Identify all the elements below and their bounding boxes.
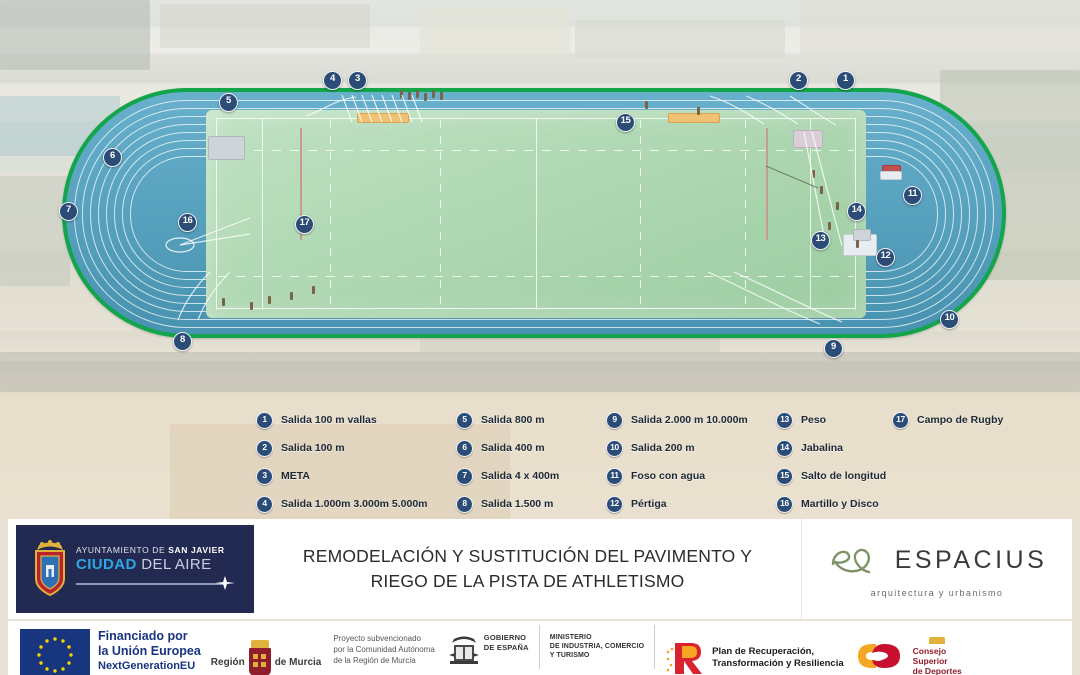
poster-root: 1234567891011121314151617 1Salida 100 m … xyxy=(0,0,1080,675)
legend-column-3: 9Salida 2.000 m 10.000m10Salida 200 m11F… xyxy=(606,406,748,518)
murcia-shield-icon xyxy=(249,648,271,675)
legend-badge-15: 15 xyxy=(776,468,793,485)
legend-column-4: 13Peso14Jabalina15Salto de longitud16Mar… xyxy=(776,406,886,518)
legend-item-1[interactable]: 1Salida 100 m vallas xyxy=(256,406,428,434)
legend-label-12: Pértiga xyxy=(631,498,667,510)
legend-label-7: Salida 4 x 400m xyxy=(481,470,559,482)
ministerio-line1: MINISTERIO xyxy=(550,633,644,642)
ministerio-logo: MINISTERIO DE INDUSTRIA, COMERCIO Y TURI… xyxy=(550,621,644,675)
subvencion-line2: por la Comunidad Autónoma xyxy=(333,644,434,655)
csd-crown-icon xyxy=(929,637,945,644)
pitch-line xyxy=(536,118,537,310)
map-marker-7[interactable]: 7 xyxy=(59,202,78,221)
espacius-logo-top: ESPACIUS xyxy=(827,540,1048,580)
prtr-mark-icon xyxy=(665,638,707,675)
legend-item-5[interactable]: 5Salida 800 m xyxy=(456,406,559,434)
legend-item-7[interactable]: 7Salida 4 x 400m xyxy=(456,462,559,490)
prtr-logo: Plan de Recuperación, Transformación y R… xyxy=(665,621,843,675)
map-marker-13[interactable]: 13 xyxy=(811,231,830,250)
prtr-line1: Plan de Recuperación, xyxy=(712,646,843,658)
municipal-logo-text: AYUNTAMIENTO DE SAN JAVIER CIUDAD DEL AI… xyxy=(76,545,225,573)
murcia-pre: Región xyxy=(211,657,245,668)
legend-label-13: Peso xyxy=(801,414,826,426)
map-marker-15[interactable]: 15 xyxy=(616,113,635,132)
legend-badge-13: 13 xyxy=(776,412,793,429)
legend-item-12[interactable]: 12Pértiga xyxy=(606,490,748,518)
prtr-line2: Transformación y Resiliencia xyxy=(712,658,843,670)
funding-divider xyxy=(539,625,540,669)
legend-item-17[interactable]: 17Campo de Rugby xyxy=(892,406,1003,434)
map-marker-6[interactable]: 6 xyxy=(103,148,122,167)
high-jump-mat xyxy=(208,136,245,160)
municipal-line1: AYUNTAMIENTO DE SAN JAVIER xyxy=(76,545,225,555)
legend-badge-5: 5 xyxy=(456,412,473,429)
legend-item-8[interactable]: 8Salida 1.500 m xyxy=(456,490,559,518)
espacius-logo: ESPACIUS arquitectura y urbanismo xyxy=(801,519,1072,619)
legend-item-10[interactable]: 10Salida 200 m xyxy=(606,434,748,462)
legend-label-3: META xyxy=(281,470,310,482)
legend-label-9: Salida 2.000 m 10.000m xyxy=(631,414,748,426)
ministerio-line2: DE INDUSTRIA, COMERCIO xyxy=(550,642,644,651)
csd-line3: de Deportes xyxy=(913,666,962,675)
legend-column-5: 17Campo de Rugby xyxy=(892,406,1003,434)
legend-item-15[interactable]: 15Salto de longitud xyxy=(776,462,886,490)
san-javier-coat-of-arms-icon xyxy=(32,539,68,597)
map-marker-14[interactable]: 14 xyxy=(847,202,866,221)
legend-item-16[interactable]: 16Martillo y Disco xyxy=(776,490,886,518)
csd-line1: Consejo xyxy=(913,646,962,656)
legend-label-11: Foso con agua xyxy=(631,470,705,482)
eu-line2: la Unión Europea xyxy=(98,644,201,659)
legend-label-14: Jabalina xyxy=(801,442,843,454)
legend-label-16: Martillo y Disco xyxy=(801,498,879,510)
eu-funding-text: Financiado por la Unión Europea NextGene… xyxy=(98,629,201,674)
legend-label-10: Salida 200 m xyxy=(631,442,695,454)
legend-item-3[interactable]: 3META xyxy=(256,462,428,490)
subvencion-text: Proyecto subvencionado por la Comunidad … xyxy=(333,621,434,675)
gobierno-espana-logo: GOBIERNO DE ESPAÑA xyxy=(449,621,529,675)
legend-item-13[interactable]: 13Peso xyxy=(776,406,886,434)
map-marker-16[interactable]: 16 xyxy=(178,213,197,232)
athlete-figure xyxy=(290,292,293,300)
ministerio-line3: Y TURISMO xyxy=(550,651,644,660)
map-marker-12[interactable]: 12 xyxy=(876,248,895,267)
legend-badge-6: 6 xyxy=(456,440,473,457)
start-line-marks xyxy=(300,92,450,128)
espacius-mark-icon xyxy=(827,540,889,580)
legend: 1Salida 100 m vallas2Salida 100 m3META4S… xyxy=(256,406,1066,518)
murcia-post: de Murcia xyxy=(275,657,322,668)
legend-badge-2: 2 xyxy=(256,440,273,457)
legend-item-14[interactable]: 14Jabalina xyxy=(776,434,886,462)
legend-column-2: 5Salida 800 m6Salida 400 m7Salida 4 x 40… xyxy=(456,406,559,518)
legend-badge-10: 10 xyxy=(606,440,623,457)
project-title-line1: REMODELACIÓN Y SUSTITUCIÓN DEL PAVIMENTO… xyxy=(303,544,752,569)
athletics-track-plan: 1234567891011121314151617 xyxy=(0,0,1080,400)
start-line-marks-right xyxy=(690,92,860,128)
legend-badge-12: 12 xyxy=(606,496,623,513)
map-marker-17[interactable]: 17 xyxy=(295,215,314,234)
eu-line1: Financiado por xyxy=(98,629,201,644)
legend-badge-9: 9 xyxy=(606,412,623,429)
legend-label-6: Salida 400 m xyxy=(481,442,545,454)
athlete-figure xyxy=(645,101,648,109)
map-marker-11[interactable]: 11 xyxy=(903,186,922,205)
espacius-name: ESPACIUS xyxy=(895,546,1048,575)
spain-coat-of-arms-icon xyxy=(449,633,479,669)
municipal-line2: CIUDAD DEL AIRE xyxy=(76,556,225,573)
pitch-line-dashed xyxy=(440,120,441,308)
map-marker-5[interactable]: 5 xyxy=(219,93,238,112)
eu-line3: NextGenerationEU xyxy=(98,659,201,674)
airplane-icon xyxy=(214,575,236,591)
eu-funding-block: Financiado por la Unión Europea NextGene… xyxy=(8,621,201,675)
legend-badge-8: 8 xyxy=(456,496,473,513)
espacius-tagline: arquitectura y urbanismo xyxy=(871,588,1004,598)
subvencion-line1: Proyecto subvencionado xyxy=(333,633,434,644)
legend-label-2: Salida 100 m xyxy=(281,442,345,454)
municipal-logo: AYUNTAMIENTO DE SAN JAVIER CIUDAD DEL AI… xyxy=(16,525,254,613)
csd-logo: Consejo Superior de Deportes xyxy=(850,621,962,675)
pitch-line-dashed xyxy=(330,120,331,308)
title-band: AYUNTAMIENTO DE SAN JAVIER CIUDAD DEL AI… xyxy=(8,519,1072,619)
legend-badge-17: 17 xyxy=(892,412,909,429)
legend-item-2[interactable]: 2Salida 100 m xyxy=(256,434,428,462)
map-marker-9[interactable]: 9 xyxy=(824,339,843,358)
legend-badge-4: 4 xyxy=(256,496,273,513)
legend-column-1: 1Salida 100 m vallas2Salida 100 m3META4S… xyxy=(256,406,428,518)
csd-line2: Superior xyxy=(913,656,962,666)
funding-divider xyxy=(654,625,655,669)
throwing-sector-lines xyxy=(150,190,260,260)
start-line-marks-bottom xyxy=(700,270,880,330)
legend-item-11[interactable]: 11Foso con agua xyxy=(606,462,748,490)
legend-label-8: Salida 1.500 m xyxy=(481,498,553,510)
legend-badge-11: 11 xyxy=(606,468,623,485)
map-marker-1[interactable]: 1 xyxy=(836,71,855,90)
map-marker-3[interactable]: 3 xyxy=(348,71,367,90)
municipal-divider xyxy=(76,583,226,585)
eu-flag-icon xyxy=(20,629,90,675)
legend-badge-16: 16 xyxy=(776,496,793,513)
legend-item-6[interactable]: 6Salida 400 m xyxy=(456,434,559,462)
project-title: REMODELACIÓN Y SUSTITUCIÓN DEL PAVIMENTO… xyxy=(254,519,801,619)
map-marker-10[interactable]: 10 xyxy=(940,310,959,329)
map-marker-8[interactable]: 8 xyxy=(173,332,192,351)
funding-bar: Financiado por la Unión Europea NextGene… xyxy=(8,621,1072,675)
project-title-line2: RIEGO DE LA PISTA DE ATHLETISMO xyxy=(371,569,685,594)
subvencion-line3: de la Región de Murcia xyxy=(333,655,434,666)
legend-label-15: Salto de longitud xyxy=(801,470,886,482)
gobierno-line2: DE ESPAÑA xyxy=(484,643,529,653)
athlete-figure xyxy=(312,286,315,294)
map-marker-4[interactable]: 4 xyxy=(323,71,342,90)
legend-label-5: Salida 800 m xyxy=(481,414,545,426)
murcia-crown-icon xyxy=(251,640,269,648)
legend-label-1: Salida 100 m vallas xyxy=(281,414,377,426)
legend-label-17: Campo de Rugby xyxy=(917,414,1003,426)
legend-label-4: Salida 1.000m 3.000m 5.000m xyxy=(281,498,428,510)
legend-badge-1: 1 xyxy=(256,412,273,429)
gobierno-line1: GOBIERNO xyxy=(484,633,529,643)
csd-mark-icon xyxy=(850,636,908,675)
pitch-line-dashed xyxy=(640,120,641,308)
legend-item-9[interactable]: 9Salida 2.000 m 10.000m xyxy=(606,406,748,434)
legend-badge-14: 14 xyxy=(776,440,793,457)
legend-badge-3: 3 xyxy=(256,468,273,485)
start-line-marks-bottom-left xyxy=(150,270,270,326)
map-marker-2[interactable]: 2 xyxy=(789,71,808,90)
legend-badge-7: 7 xyxy=(456,468,473,485)
legend-item-4[interactable]: 4Salida 1.000m 3.000m 5.000m xyxy=(256,490,428,518)
murcia-region-logo: Región de Murcia xyxy=(211,621,322,675)
